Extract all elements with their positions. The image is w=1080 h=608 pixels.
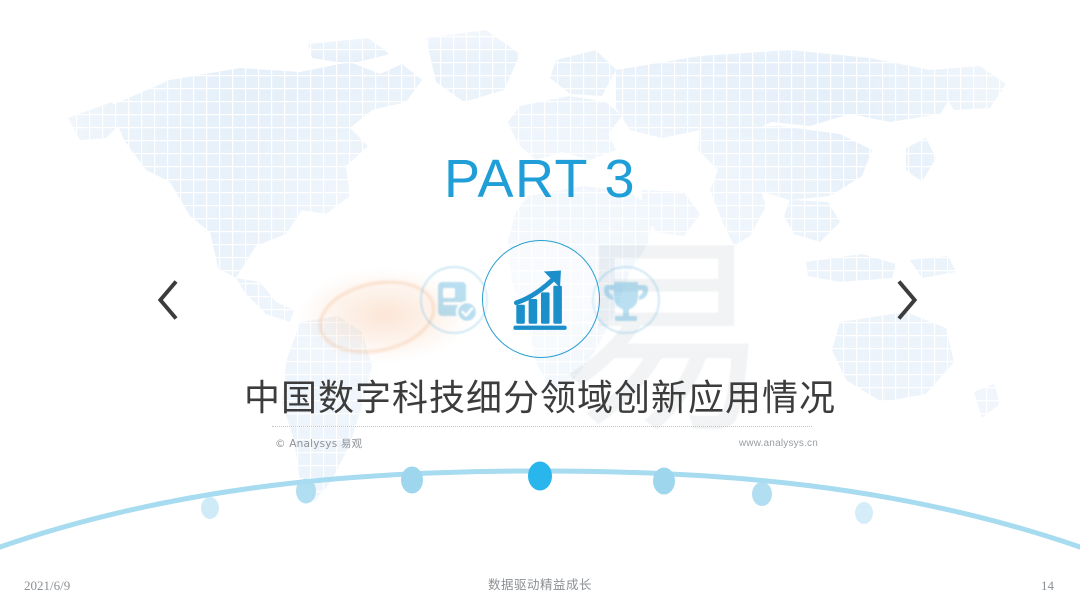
icon-cluster xyxy=(400,240,680,360)
progress-dot[interactable] xyxy=(653,468,675,495)
progress-dot[interactable] xyxy=(201,497,219,519)
footer-page-number: 14 xyxy=(1041,578,1054,594)
progress-arc-line xyxy=(0,471,1080,547)
progress-arc xyxy=(0,455,1080,565)
next-slide-arrow[interactable] xyxy=(884,268,930,332)
previous-slide-arrow[interactable] xyxy=(145,268,191,332)
progress-dot[interactable] xyxy=(296,479,316,504)
center-icon-circle xyxy=(482,240,600,358)
part-heading: PART 3 xyxy=(0,148,1080,210)
progress-dot[interactable] xyxy=(855,502,873,524)
website-url[interactable]: www.analysys.cn xyxy=(739,438,818,449)
progress-dot[interactable] xyxy=(752,482,772,506)
progress-dot-active[interactable] xyxy=(528,462,552,491)
bar-chart-growth-icon xyxy=(503,261,579,337)
footer-tagline: 数据驱动精益成长 xyxy=(0,574,1080,593)
chevron-left-icon xyxy=(151,275,185,325)
progress-dot[interactable] xyxy=(401,467,423,494)
copyright-credit: © Analysys 易观 xyxy=(275,436,362,451)
page-title: 中国数字科技细分领域创新应用情况 xyxy=(0,369,1080,421)
title-divider xyxy=(272,426,812,428)
chevron-right-icon xyxy=(890,275,924,325)
slide-canvas: 易 PART 3 xyxy=(0,0,1080,608)
